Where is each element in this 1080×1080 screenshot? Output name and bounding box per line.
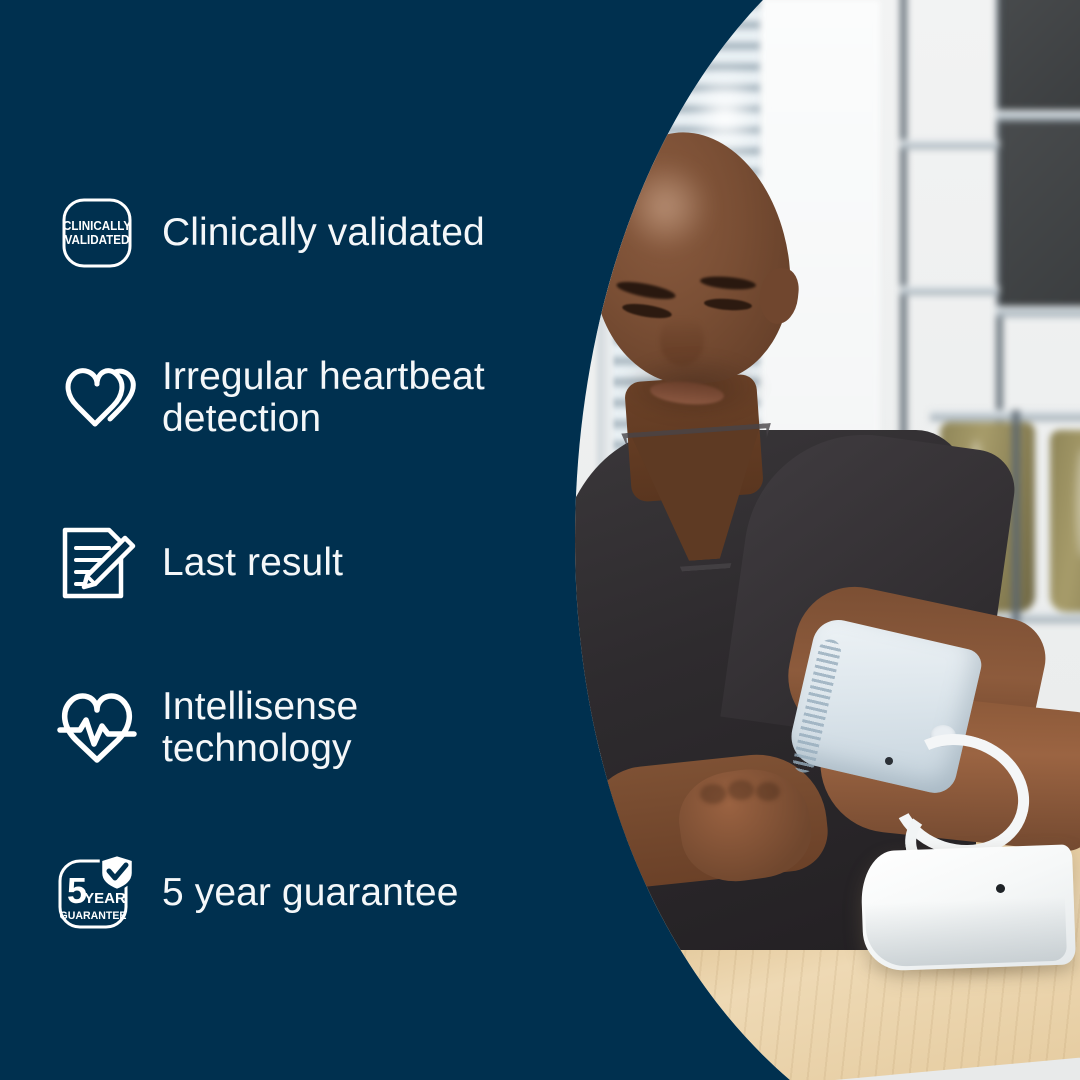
heart-pulse-icon	[54, 685, 140, 771]
double-heart-icon	[54, 355, 140, 441]
feature-list: CLINICALLY VALIDATED Clinically validate…	[54, 150, 574, 975]
feature-item-intellisense: Intellisense technology	[54, 645, 574, 810]
feature-label-intellisense: Intellisense technology	[162, 686, 358, 769]
feature-item-five-year-guarantee: 5 YEAR GUARANTEE 5 year guarantee	[54, 810, 574, 975]
monitor-sensor-dot	[996, 884, 1005, 893]
cuff-marker-dot	[885, 757, 893, 765]
product-feature-panel: CLINICALLY VALIDATED Clinically validate…	[0, 0, 1080, 1080]
feature-label-clinically-validated: Clinically validated	[162, 212, 485, 254]
feature-item-irregular-heartbeat: Irregular heartbeat detection	[54, 315, 574, 480]
badge-year: YEAR	[84, 890, 126, 907]
monitor-shading	[865, 897, 1067, 968]
document-pencil-icon	[54, 520, 140, 606]
clinically-validated-badge-icon: CLINICALLY VALIDATED	[54, 190, 140, 276]
feature-label-irregular-heartbeat: Irregular heartbeat detection	[162, 356, 485, 439]
feature-item-last-result: Last result	[54, 480, 574, 645]
badge-line-1: CLINICALLY	[63, 218, 131, 232]
badge-line-2: VALIDATED	[65, 232, 130, 246]
badge-guarantee: GUARANTEE	[60, 909, 127, 921]
feature-item-clinically-validated: CLINICALLY VALIDATED Clinically validate…	[54, 150, 574, 315]
five-year-guarantee-badge-icon: 5 YEAR GUARANTEE	[54, 850, 140, 936]
feature-label-last-result: Last result	[162, 542, 343, 584]
feature-label-five-year-guarantee: 5 year guarantee	[162, 872, 458, 914]
